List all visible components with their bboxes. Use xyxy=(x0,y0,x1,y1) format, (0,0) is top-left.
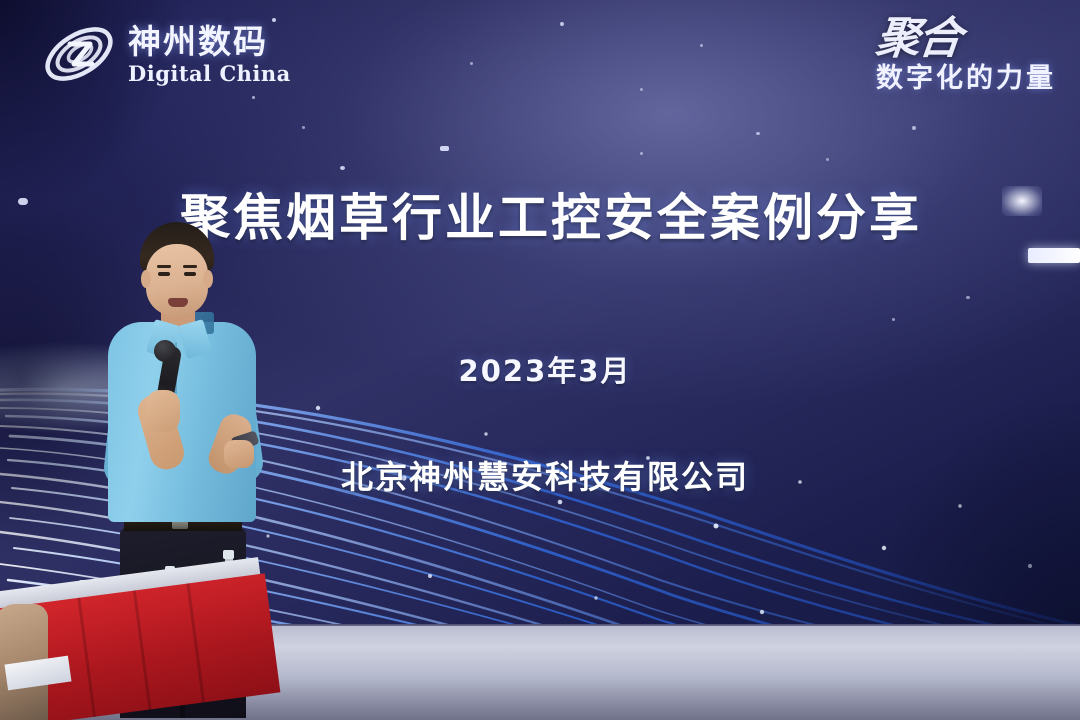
speaker-mouth xyxy=(168,298,188,307)
speaker-eye-right xyxy=(184,272,196,276)
speaker-left-hand xyxy=(146,390,180,432)
conference-stage-photo: 神州数码 Digital China 聚合 数字化的力量 聚焦烟草行业工控安全案… xyxy=(0,0,1080,720)
speaker-eyebrow-right xyxy=(183,265,197,268)
swirl-galaxy-icon xyxy=(40,18,118,90)
speaker-ear-left xyxy=(141,270,151,288)
speaker-eyebrow-left xyxy=(157,265,171,268)
logo-name-cn: 神州数码 xyxy=(128,25,291,58)
speaker-eye-left xyxy=(158,272,170,276)
digital-china-logo: 神州数码 Digital China xyxy=(40,18,291,90)
speaker-ear-right xyxy=(203,270,213,288)
logo-name-en: Digital China xyxy=(128,63,291,84)
event-brand-logo: 聚合 数字化的力量 xyxy=(876,18,1056,95)
speaker-right-hand xyxy=(224,440,254,468)
screen-light-strip xyxy=(1028,248,1080,263)
brand-calligraphy: 聚合 xyxy=(874,18,962,60)
